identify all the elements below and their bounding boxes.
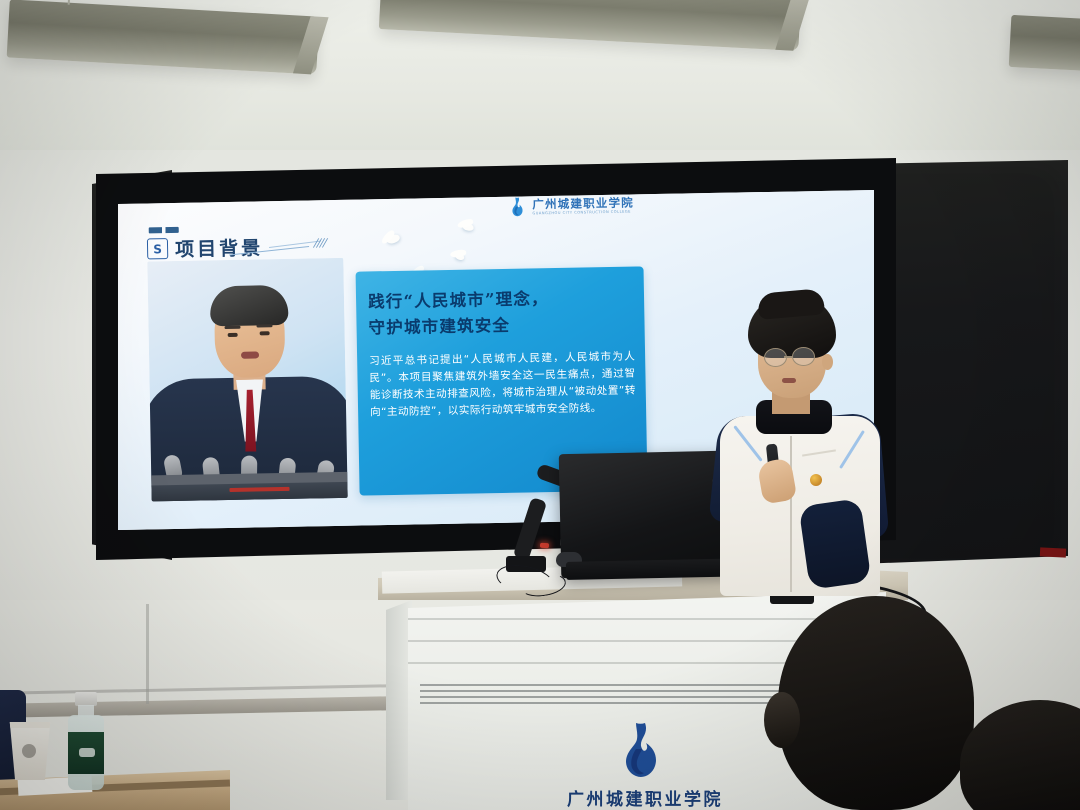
presenter-hair <box>748 296 836 358</box>
title-tick-decoration: ⁄⁄⁄⁄ <box>315 236 327 250</box>
water-bottle[interactable] <box>66 692 106 790</box>
lapel-pin-icon <box>810 474 822 486</box>
bottle-label <box>68 732 104 774</box>
slide-body-text: 习近平总书记提出“人民城市人民建，人民城市为人民”。本项目聚焦建筑外墙安全这一民… <box>369 349 636 422</box>
section-mark-icon: S <box>147 238 168 259</box>
slide-college-logo: 广州城建职业学院 GUANGZHOU CITY CONSTRUCTION COL… <box>510 195 634 218</box>
flame-logo-icon <box>510 197 527 218</box>
podium-logo-name-cn: 广州城建职业学院 <box>560 785 730 810</box>
ceiling-light-fixture <box>1009 15 1080 73</box>
paper-cup[interactable] <box>8 722 52 780</box>
jacket-zipper <box>790 436 792 592</box>
bottle-cap <box>75 692 97 706</box>
slide-headline: 践行“人民城市”理念， 守护城市建筑安全 <box>368 285 633 341</box>
flame-logo-icon <box>622 722 668 778</box>
power-led-icon <box>540 543 549 548</box>
dove-icon <box>455 252 465 261</box>
slide-speaker-photo <box>147 258 347 502</box>
slide-title-text: 项目背景 <box>175 233 263 262</box>
classroom-scene: 广州城建职业学院 GUANGZHOU CITY CONSTRUCTION COL… <box>0 0 1080 810</box>
slide-section-title: S 项目背景 <box>147 233 263 262</box>
wall-edge <box>146 604 149 704</box>
title-accent-dash <box>149 227 179 234</box>
presenter-arm <box>798 498 871 590</box>
audience-head <box>778 596 974 810</box>
dove-icon <box>386 233 401 245</box>
eyeglasses-icon <box>792 347 815 366</box>
presenter <box>706 296 888 596</box>
slide-headline-line2: 守护城市建筑安全 <box>368 310 632 340</box>
podium-college-logo: 广州城建职业学院 GUANGZHOU CITY CONSTRUCTION COL… <box>560 722 730 810</box>
dove-icon <box>462 223 474 232</box>
board-trim <box>1040 547 1066 557</box>
